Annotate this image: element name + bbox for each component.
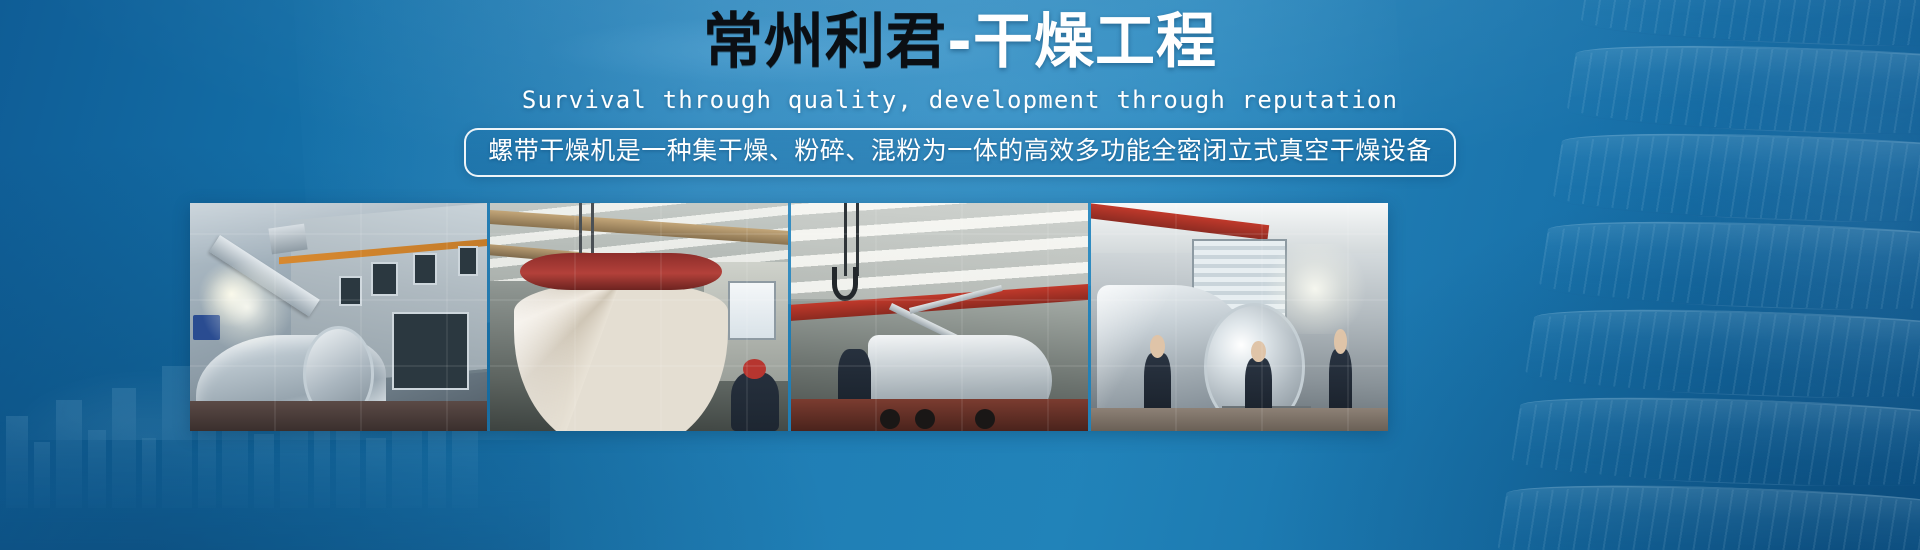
- truck-wheel: [880, 409, 900, 429]
- cityscape-building: [6, 416, 28, 508]
- cityscape-building: [56, 400, 82, 508]
- headline-block: 常州利君-干燥工程 Survival through quality, deve…: [0, 0, 1920, 177]
- steel-beam-cap: [269, 223, 308, 254]
- promo-banner: 常州利君-干燥工程 Survival through quality, deve…: [0, 0, 1920, 550]
- worker: [731, 372, 779, 431]
- conical-dryer-rim: [520, 253, 722, 289]
- photo-crane-lifting-vessel[interactable]: [791, 203, 1088, 431]
- blue-fixture: [193, 315, 220, 340]
- tower-band: [1551, 128, 1920, 228]
- conical-dryer-body: [514, 281, 728, 431]
- truck-bed: [791, 399, 1088, 431]
- subtitle-box: 螺带干燥机是一种集干燥、粉碎、混粉为一体的高效多功能全密闭立式真空干燥设备: [464, 128, 1456, 177]
- hoist-cable: [856, 203, 859, 276]
- cityscape-building: [314, 426, 330, 508]
- building-window: [339, 276, 363, 306]
- truck-wheel: [915, 409, 935, 429]
- hoist-cable: [844, 203, 847, 276]
- tower-band: [1564, 40, 1920, 140]
- cityscape-building: [198, 420, 216, 508]
- tagline: Survival through quality, development th…: [0, 86, 1920, 114]
- tower-ribs: [1579, 0, 1920, 51]
- photo-assembly-workers[interactable]: [1091, 203, 1388, 431]
- title-business-line: -干燥工程: [947, 7, 1217, 77]
- workshop-floor: [1091, 408, 1388, 431]
- truck-wheel: [975, 409, 995, 429]
- tower-facade: [1491, 0, 1920, 550]
- tower-band: [1578, 0, 1920, 52]
- tower-band: [1537, 216, 1920, 316]
- photo-vessel-transport[interactable]: [190, 203, 487, 431]
- cityscape-building: [112, 388, 136, 508]
- building-window: [458, 246, 479, 276]
- truck-bed: [190, 401, 487, 431]
- tower-ribs: [1509, 394, 1920, 491]
- page-title: 常州利君-干燥工程: [0, 12, 1920, 72]
- cityscape-building: [162, 366, 192, 508]
- tower-ribs: [1565, 42, 1920, 139]
- workshop-window: [728, 281, 776, 340]
- product-photo-strip: [190, 203, 1388, 431]
- tower-ribs: [1537, 218, 1920, 315]
- cityscape-building: [254, 434, 274, 508]
- cityscape-haze: [0, 420, 550, 550]
- background-title-glow: [470, 8, 1110, 92]
- tower-band: [1495, 480, 1920, 550]
- subtitle-text: 螺带干燥机是一种集干燥、粉碎、混粉为一体的高效多功能全密闭立式真空干燥设备: [488, 137, 1432, 166]
- tower-band: [1509, 392, 1920, 492]
- photo-conical-vessel-workshop[interactable]: [490, 203, 787, 431]
- cityscape-building: [88, 430, 106, 508]
- building-window: [413, 253, 437, 285]
- crane-hook: [832, 267, 858, 301]
- building-window: [371, 262, 398, 296]
- tower-ribs: [1523, 306, 1920, 403]
- cityscape-building: [366, 438, 386, 508]
- background-tower-pattern: [1490, 0, 1920, 550]
- building-door: [392, 312, 469, 390]
- tower-ribs: [1495, 482, 1920, 550]
- title-company-name: 常州利君: [703, 7, 947, 77]
- cityscape-building: [428, 422, 446, 508]
- cityscape-building: [142, 438, 156, 508]
- tower-glow: [1600, 0, 1920, 550]
- cityscape-building: [34, 442, 50, 508]
- tower-ribs: [1551, 130, 1920, 227]
- tower-band: [1523, 304, 1920, 404]
